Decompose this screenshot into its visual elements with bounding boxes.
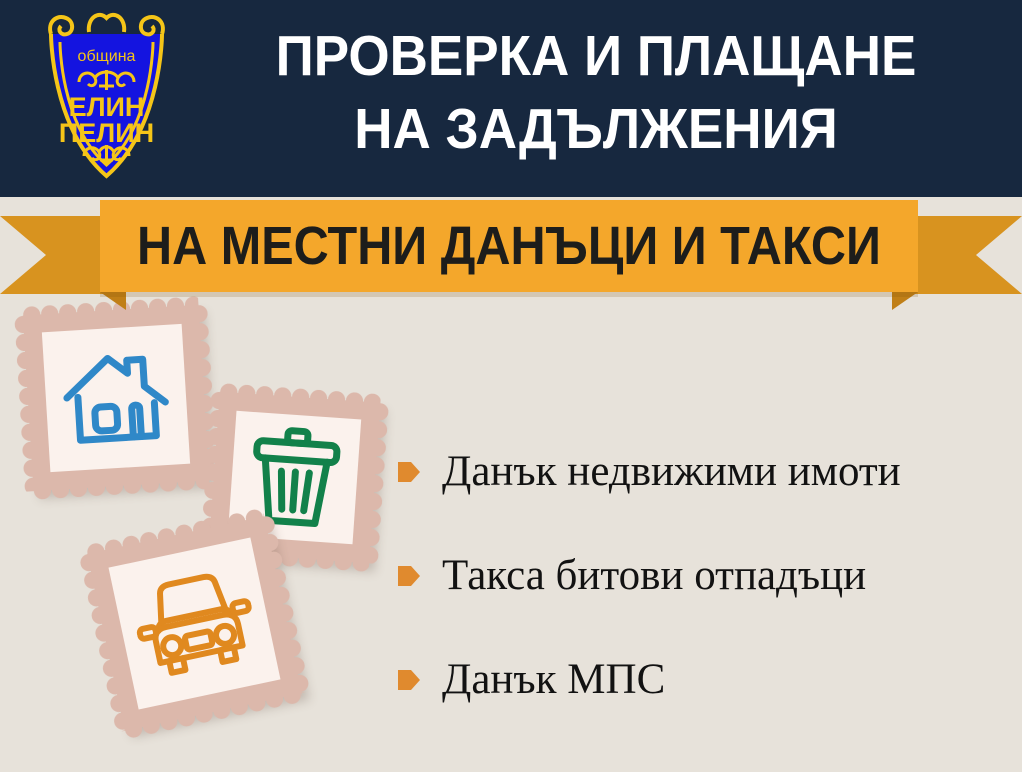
house-icon	[58, 345, 174, 452]
arrow-bullet-icon	[398, 667, 420, 693]
stamp-edge-left	[14, 315, 43, 492]
list-item[interactable]: Такса битови отпадъци	[398, 524, 1018, 628]
tax-type-list: Данък недвижими имоти Такса битови отпад…	[398, 420, 1018, 732]
poster-canvas: община ЕЛИН ПЕЛИН ПРО	[0, 0, 1022, 772]
header-bar: община ЕЛИН ПЕЛИН ПРО	[0, 0, 1022, 197]
page-title: ПРОВЕРКА И ПЛАЩАНЕ НА ЗАДЪЛЖЕНИЯ	[215, 20, 978, 166]
stamp-card-face	[42, 324, 190, 472]
ribbon-banner: НА МЕСТНИ ДАНЪЦИ И ТАКСИ	[0, 196, 1022, 306]
ribbon-tail-right	[900, 216, 1022, 294]
list-item[interactable]: Данък МПС	[398, 628, 1018, 732]
list-item-label: Данък недвижими имоти	[442, 449, 901, 495]
ribbon-band: НА МЕСТНИ ДАНЪЦИ И ТАКСИ	[100, 200, 918, 292]
municipality-logo: община ЕЛИН ПЕЛИН	[29, 8, 184, 188]
stamp-card-property-tax	[23, 305, 209, 491]
svg-text:ПЕЛИН: ПЕЛИН	[59, 118, 154, 148]
list-item[interactable]: Данък недвижими имоти	[398, 420, 1018, 524]
list-item-label: Такса битови отпадъци	[442, 553, 866, 599]
coat-of-arms-icon: община ЕЛИН ПЕЛИН	[29, 8, 184, 188]
list-item-label: Данък МПС	[442, 657, 665, 703]
stamp-card-group	[0, 296, 420, 772]
car-front-icon	[127, 563, 263, 683]
ribbon-label: НА МЕСТНИ ДАНЪЦИ И ТАКСИ	[141, 200, 877, 292]
arrow-bullet-icon	[398, 563, 420, 589]
arrow-bullet-icon	[398, 459, 420, 485]
stamp-card-face	[109, 538, 281, 710]
svg-text:община: община	[78, 48, 136, 65]
ribbon-fold-right	[892, 292, 918, 310]
stamp-card-vehicle-tax	[87, 516, 302, 731]
stamp-edge-right	[360, 402, 389, 564]
